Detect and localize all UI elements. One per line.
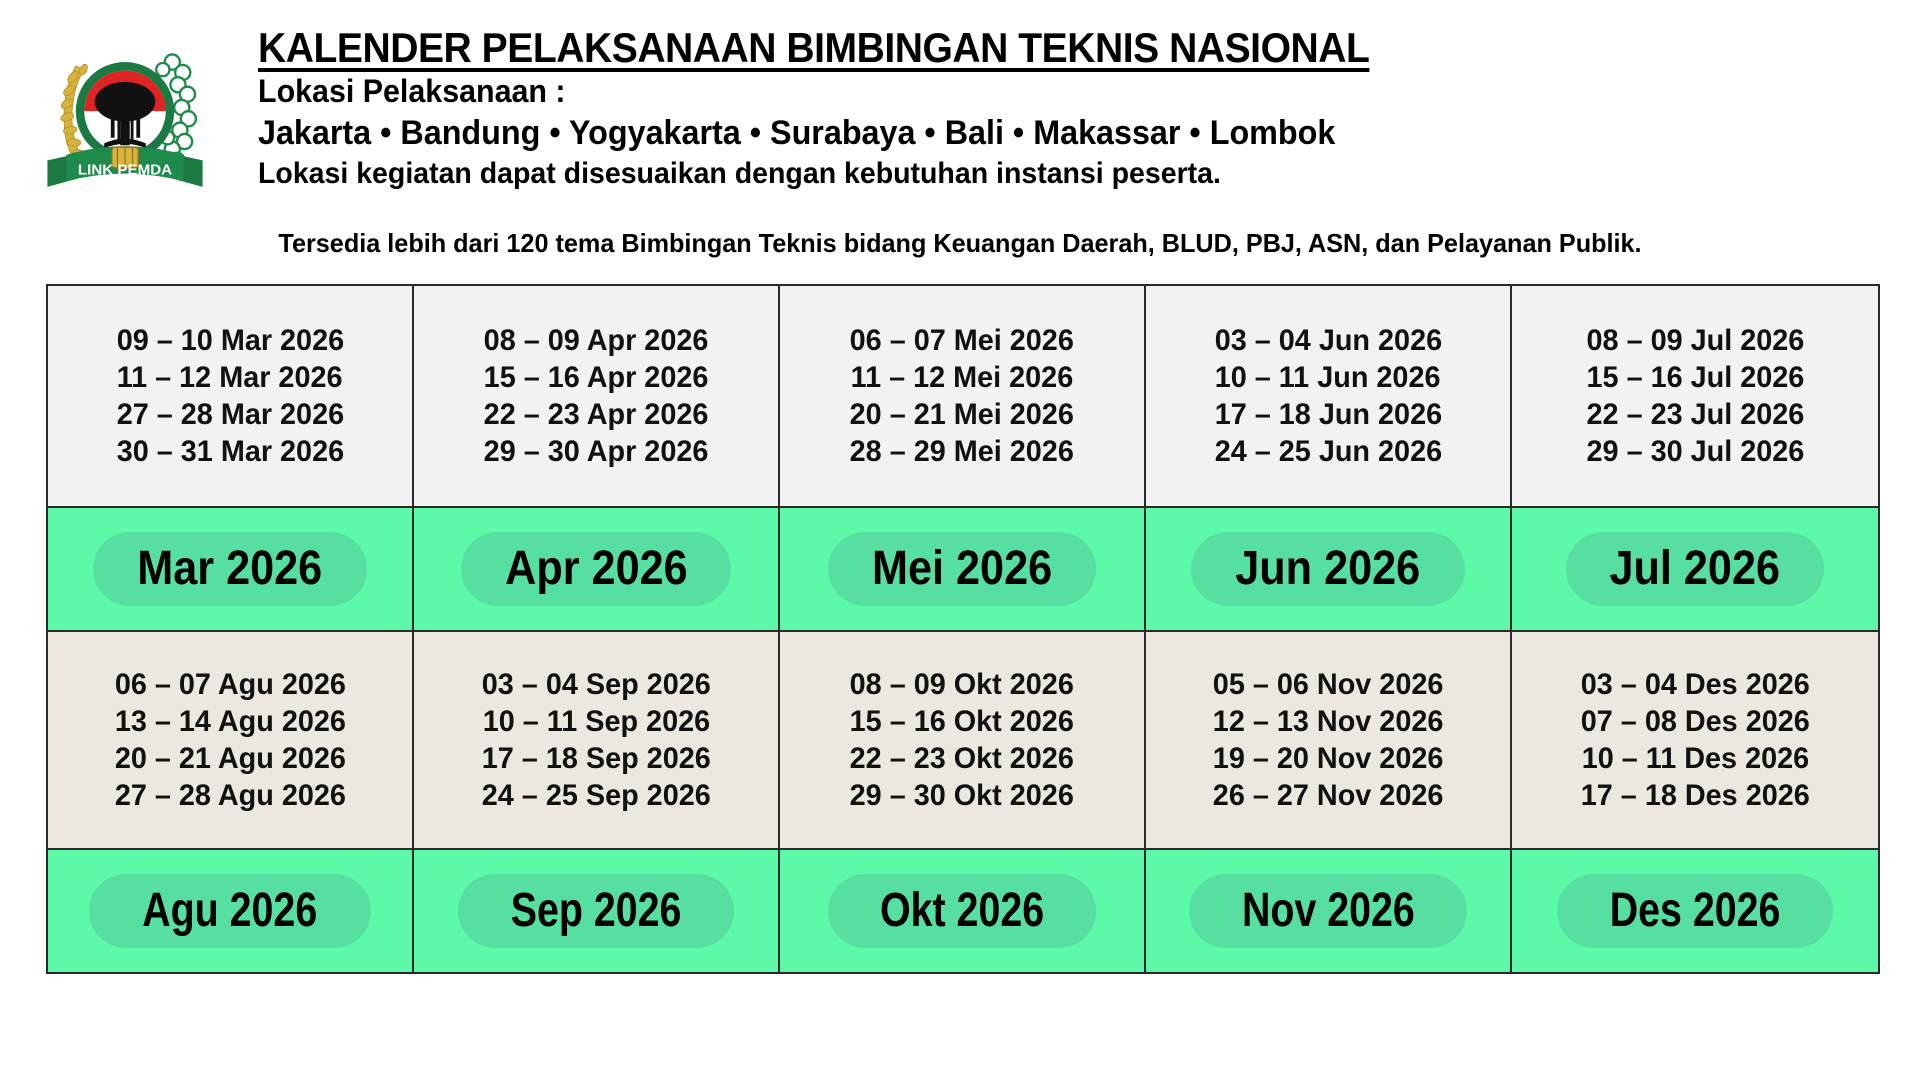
month-pill: Apr 2026 [461,532,732,606]
month-pill: Mei 2026 [828,532,1096,606]
date-line: 11 – 12 Mar 2026 [117,359,343,396]
month-cell-okt: Okt 2026 [780,850,1146,974]
date-line: 07 – 08 Des 2026 [1580,703,1809,740]
month-pill: Nov 2026 [1189,874,1468,948]
link-pemda-logo-icon: LINK PEMDA [30,28,220,203]
calendar-month-row-first-half: Mar 2026 Apr 2026 Mei 2026 Jun 2026 [48,508,1878,632]
date-cell-agu: 06 – 07 Agu 2026 13 – 14 Agu 2026 20 – 2… [48,632,414,850]
month-label: Apr 2026 [505,545,688,593]
logo-container: LINK PEMDA [0,18,250,208]
date-line: 22 – 23 Jul 2026 [1586,396,1804,433]
header-text-block: KALENDER PELAKSANAAN BIMBINGAN TEKNIS NA… [250,18,1920,193]
month-label: Des 2026 [1610,887,1781,935]
month-cell-apr: Apr 2026 [414,508,780,632]
month-label: Mei 2026 [872,545,1052,593]
month-cell-mar: Mar 2026 [48,508,414,632]
date-cell-jul: 08 – 09 Jul 2026 15 – 16 Jul 2026 22 – 2… [1512,286,1878,508]
date-line: 08 – 09 Okt 2026 [850,666,1074,703]
date-line: 27 – 28 Mar 2026 [116,396,343,433]
date-line: 06 – 07 Agu 2026 [114,666,345,703]
date-line: 05 – 06 Nov 2026 [1213,666,1444,703]
logo-banner-text: LINK PEMDA [78,162,172,179]
date-line: 28 – 29 Mei 2026 [850,433,1074,470]
date-line: 12 – 13 Nov 2026 [1213,703,1444,740]
date-cell-des: 03 – 04 Des 2026 07 – 08 Des 2026 10 – 1… [1512,632,1878,850]
calendar-grid: 09 – 10 Mar 2026 11 – 12 Mar 2026 27 – 2… [46,284,1880,974]
date-line: 10 – 11 Sep 2026 [482,703,709,740]
month-pill: Agu 2026 [89,874,370,948]
date-line: 29 – 30 Jul 2026 [1586,433,1804,470]
month-label: Mar 2026 [138,545,323,593]
calendar-month-row-second-half: Agu 2026 Sep 2026 Okt 2026 Nov 2026 [48,850,1878,974]
date-cell-apr: 08 – 09 Apr 2026 15 – 16 Apr 2026 22 – 2… [414,286,780,508]
month-label: Nov 2026 [1242,887,1415,935]
calendar-dates-row-first-half: 09 – 10 Mar 2026 11 – 12 Mar 2026 27 – 2… [48,286,1878,508]
date-line: 13 – 14 Agu 2026 [114,703,345,740]
tagline: Tersedia lebih dari 120 tema Bimbingan T… [29,228,1891,259]
date-cell-jun: 03 – 04 Jun 2026 10 – 11 Jun 2026 17 – 1… [1146,286,1512,508]
date-line: 17 – 18 Des 2026 [1580,777,1809,814]
date-line: 22 – 23 Okt 2026 [850,740,1074,777]
date-line: 08 – 09 Apr 2026 [484,322,709,359]
date-line: 10 – 11 Des 2026 [1581,740,1808,777]
calendar-poster: LINK PEMDA KALENDER PELAKSANAAN BIMBINGA… [0,0,1920,1080]
month-label: Jul 2026 [1610,545,1781,593]
date-line: 26 – 27 Nov 2026 [1213,777,1444,814]
month-cell-sep: Sep 2026 [414,850,780,974]
month-cell-des: Des 2026 [1512,850,1878,974]
date-line: 29 – 30 Apr 2026 [484,433,709,470]
date-cell-mei: 06 – 07 Mei 2026 11 – 12 Mei 2026 20 – 2… [780,286,1146,508]
month-cell-jul: Jul 2026 [1512,508,1878,632]
date-line: 27 – 28 Agu 2026 [114,777,345,814]
calendar-dates-row-second-half: 06 – 07 Agu 2026 13 – 14 Agu 2026 20 – 2… [48,632,1878,850]
date-line: 17 – 18 Sep 2026 [482,740,711,777]
month-pill: Sep 2026 [458,874,734,948]
date-line: 03 – 04 Sep 2026 [482,666,711,703]
date-line: 29 – 30 Okt 2026 [850,777,1074,814]
date-line: 03 – 04 Des 2026 [1580,666,1809,703]
date-line: 09 – 10 Mar 2026 [116,322,343,359]
month-cell-jun: Jun 2026 [1146,508,1512,632]
date-line: 20 – 21 Mei 2026 [850,396,1074,433]
date-line: 19 – 20 Nov 2026 [1213,740,1444,777]
date-cell-sep: 03 – 04 Sep 2026 10 – 11 Sep 2026 17 – 1… [414,632,780,850]
date-line: 15 – 16 Okt 2026 [850,703,1074,740]
month-pill: Mar 2026 [93,532,366,606]
date-line: 03 – 04 Jun 2026 [1214,322,1441,359]
date-line: 15 – 16 Apr 2026 [484,359,709,396]
month-label: Agu 2026 [142,887,317,935]
date-line: 17 – 18 Jun 2026 [1214,396,1441,433]
date-line: 06 – 07 Mei 2026 [850,322,1074,359]
page-title: KALENDER PELAKSANAAN BIMBINGAN TEKNIS NA… [258,24,1804,71]
month-label: Okt 2026 [880,887,1044,935]
month-cell-mei: Mei 2026 [780,508,1146,632]
month-label: Jun 2026 [1236,545,1421,593]
month-cell-nov: Nov 2026 [1146,850,1512,974]
date-line: 24 – 25 Jun 2026 [1214,433,1441,470]
date-cell-nov: 05 – 06 Nov 2026 12 – 13 Nov 2026 19 – 2… [1146,632,1512,850]
date-cell-mar: 09 – 10 Mar 2026 11 – 12 Mar 2026 27 – 2… [48,286,414,508]
date-line: 15 – 16 Jul 2026 [1586,359,1804,396]
date-line: 11 – 12 Mei 2026 [851,359,1074,396]
month-cell-agu: Agu 2026 [48,850,414,974]
month-label: Sep 2026 [511,887,682,935]
month-pill: Jun 2026 [1191,532,1464,606]
month-pill: Okt 2026 [828,874,1096,948]
location-note: Lokasi kegiatan dapat disesuaikan dengan… [258,154,1837,193]
date-line: 08 – 09 Jul 2026 [1586,322,1804,359]
location-label: Lokasi Pelaksanaan : [258,71,1837,112]
date-line: 24 – 25 Sep 2026 [482,777,711,814]
date-line: 30 – 31 Mar 2026 [116,433,343,470]
date-line: 20 – 21 Agu 2026 [114,740,345,777]
month-pill: Des 2026 [1557,874,1833,948]
date-cell-okt: 08 – 09 Okt 2026 15 – 16 Okt 2026 22 – 2… [780,632,1146,850]
poster-header: LINK PEMDA KALENDER PELAKSANAAN BIMBINGA… [0,0,1920,220]
date-line: 10 – 11 Jun 2026 [1215,359,1441,396]
date-line: 22 – 23 Apr 2026 [484,396,709,433]
location-cities: Jakarta • Bandung • Yogyakarta • Surabay… [258,112,1837,155]
month-pill: Jul 2026 [1566,532,1823,606]
